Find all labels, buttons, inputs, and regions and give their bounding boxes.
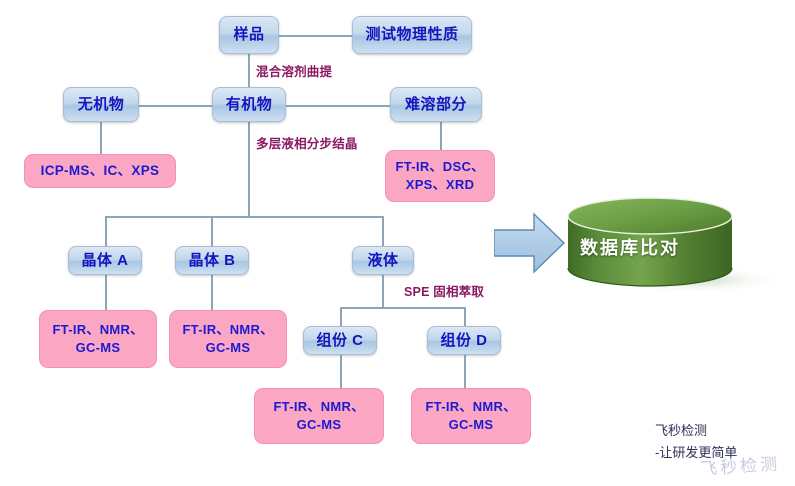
node-liquid[interactable]: 液体 [352,246,414,275]
edge-label-mixed-solvent: 混合溶剂曲提 [256,61,332,80]
connector-branch-to-crystal-a [105,216,107,246]
methods-crystal-a-line1: FT-IR、NMR、 [52,321,143,339]
methods-fraction-d-line1: FT-IR、NMR、 [425,398,516,416]
node-crystal-b[interactable]: 晶体 B [175,246,249,275]
connector-inorganic-to-methods [100,122,102,154]
node-crystal-a-label: 晶体 A [81,252,128,269]
node-physical-test[interactable]: 测试物理性质 [352,16,472,54]
flowchart-canvas: 样品 测试物理性质 无机物 有机物 难溶部分 晶体 A 晶体 B 液体 组份 C… [0,0,795,486]
connector-insoluble-to-methods [440,122,442,150]
node-liquid-label: 液体 [367,252,398,269]
methods-fraction-d-line2: GC-MS [449,416,494,434]
node-fraction-d[interactable]: 组份 D [427,326,501,355]
brand-line-1: 飞秒检测 [655,421,707,441]
methods-crystal-b-line1: FT-IR、NMR、 [182,321,273,339]
connector-fraction-c-to-methods [340,355,342,388]
methods-insoluble-line2: XPS、XRD [406,176,475,194]
node-inorganic[interactable]: 无机物 [63,87,139,122]
node-crystal-a[interactable]: 晶体 A [68,246,142,275]
node-fraction-c[interactable]: 组份 C [303,326,377,355]
methods-inorganic-label: ICP-MS、IC、XPS [41,162,160,180]
node-inorganic-label: 无机物 [78,96,125,113]
node-insoluble-label: 难溶部分 [405,96,467,113]
methods-fraction-c-line1: FT-IR、NMR、 [273,398,364,416]
methods-crystal-a[interactable]: FT-IR、NMR、 GC-MS [39,310,157,368]
arrow-to-database-icon [494,212,566,274]
methods-fraction-c[interactable]: FT-IR、NMR、 GC-MS [254,388,384,444]
connector-liquid-branch-bar [340,307,466,309]
connector-branch-to-fraction-c [340,307,342,326]
connector-organic-stem [248,122,250,216]
connector-branch-bar [105,216,383,218]
connector-branch-to-crystal-b [211,216,213,246]
connector-sample-to-physical-test [279,35,352,37]
connector-inorganic-to-organic [139,105,213,107]
methods-crystal-a-line2: GC-MS [76,339,121,357]
methods-fraction-d[interactable]: FT-IR、NMR、 GC-MS [411,388,531,444]
methods-crystal-b-line2: GC-MS [206,339,251,357]
methods-crystal-b[interactable]: FT-IR、NMR、 GC-MS [169,310,287,368]
node-sample[interactable]: 样品 [219,16,279,54]
node-crystal-b-label: 晶体 B [188,252,235,269]
connector-crystal-b-to-methods [211,275,213,310]
methods-fraction-c-line2: GC-MS [297,416,342,434]
node-fraction-d-label: 组份 D [440,332,487,349]
connector-fraction-d-to-methods [464,355,466,388]
brand-line-2: -让研发更简单 [655,443,737,463]
methods-insoluble[interactable]: FT-IR、DSC、 XPS、XRD [385,150,495,202]
connector-organic-to-insoluble [286,105,390,107]
database-label: 数据库比对 [580,234,680,260]
node-organic-label: 有机物 [226,96,273,113]
edge-label-multilayer-crystallization: 多层液相分步结晶 [256,133,358,152]
connector-branch-to-liquid [382,216,384,246]
methods-insoluble-line1: FT-IR、DSC、 [396,158,485,176]
node-physical-test-label: 测试物理性质 [365,26,458,43]
connector-crystal-a-to-methods [105,275,107,310]
node-insoluble[interactable]: 难溶部分 [390,87,482,122]
methods-inorganic[interactable]: ICP-MS、IC、XPS [24,154,176,188]
arrow-to-database [494,212,566,274]
node-sample-label: 样品 [233,26,264,43]
connector-liquid-stem [382,275,384,307]
edge-label-spe: SPE 固相萃取 [404,281,484,300]
node-fraction-c-label: 组份 C [316,332,363,349]
node-organic[interactable]: 有机物 [212,87,286,122]
database-cylinder[interactable]: 数据库比对 [560,196,790,296]
connector-branch-to-fraction-d [464,307,466,326]
